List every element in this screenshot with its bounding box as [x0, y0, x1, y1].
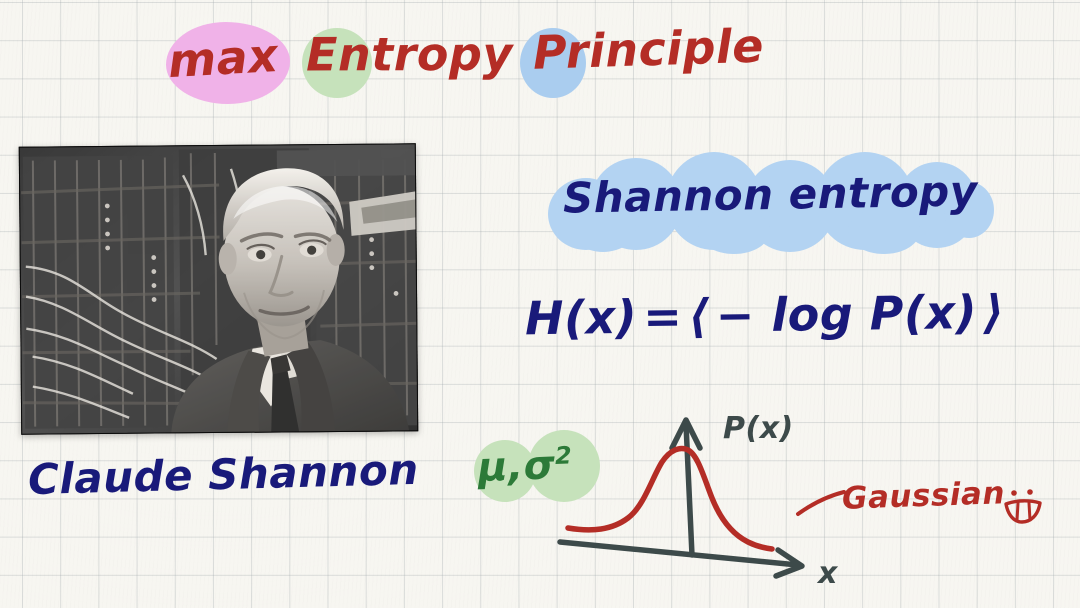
parameter-sigma-exponent: 2	[554, 441, 572, 470]
y-axis	[686, 424, 692, 555]
gaussian-annotation: Gaussian	[841, 475, 1005, 517]
photo-caption: Claude Shannon	[27, 445, 419, 504]
shannon-entropy-formula: H(x)=⟨− log P(x)⟩	[525, 285, 1005, 346]
gaussian-parameters: μ,σ2	[477, 441, 573, 491]
title-word-entropy: Entropy	[306, 27, 513, 82]
formula-body: − log P(x)	[709, 285, 983, 343]
leader-line-icon	[798, 492, 844, 514]
y-axis-label: P(x)	[723, 411, 794, 446]
formula-close-bracket: ⟩	[983, 285, 1005, 339]
parameter-comma: ,	[507, 443, 524, 490]
smiley-face-icon	[1000, 484, 1048, 532]
claude-shannon-photo	[19, 143, 418, 434]
page-title: maxEntropyPrinciple	[167, 20, 764, 86]
formula-open-bracket: ⟨	[688, 289, 710, 343]
title-word-max: max	[167, 28, 280, 88]
parameter-sigma: σ	[523, 442, 556, 489]
note-canvas: maxEntropyPrinciple	[0, 0, 1080, 608]
shannon-entropy-heading: Shannon entropy	[563, 166, 978, 222]
x-axis-label: x	[818, 556, 838, 591]
parameter-mu: μ	[477, 444, 509, 491]
title-word-principle: Principle	[532, 19, 765, 80]
formula-equals: =	[637, 289, 689, 344]
gaussian-curve	[568, 449, 772, 550]
formula-lhs: H(x)	[525, 290, 638, 346]
